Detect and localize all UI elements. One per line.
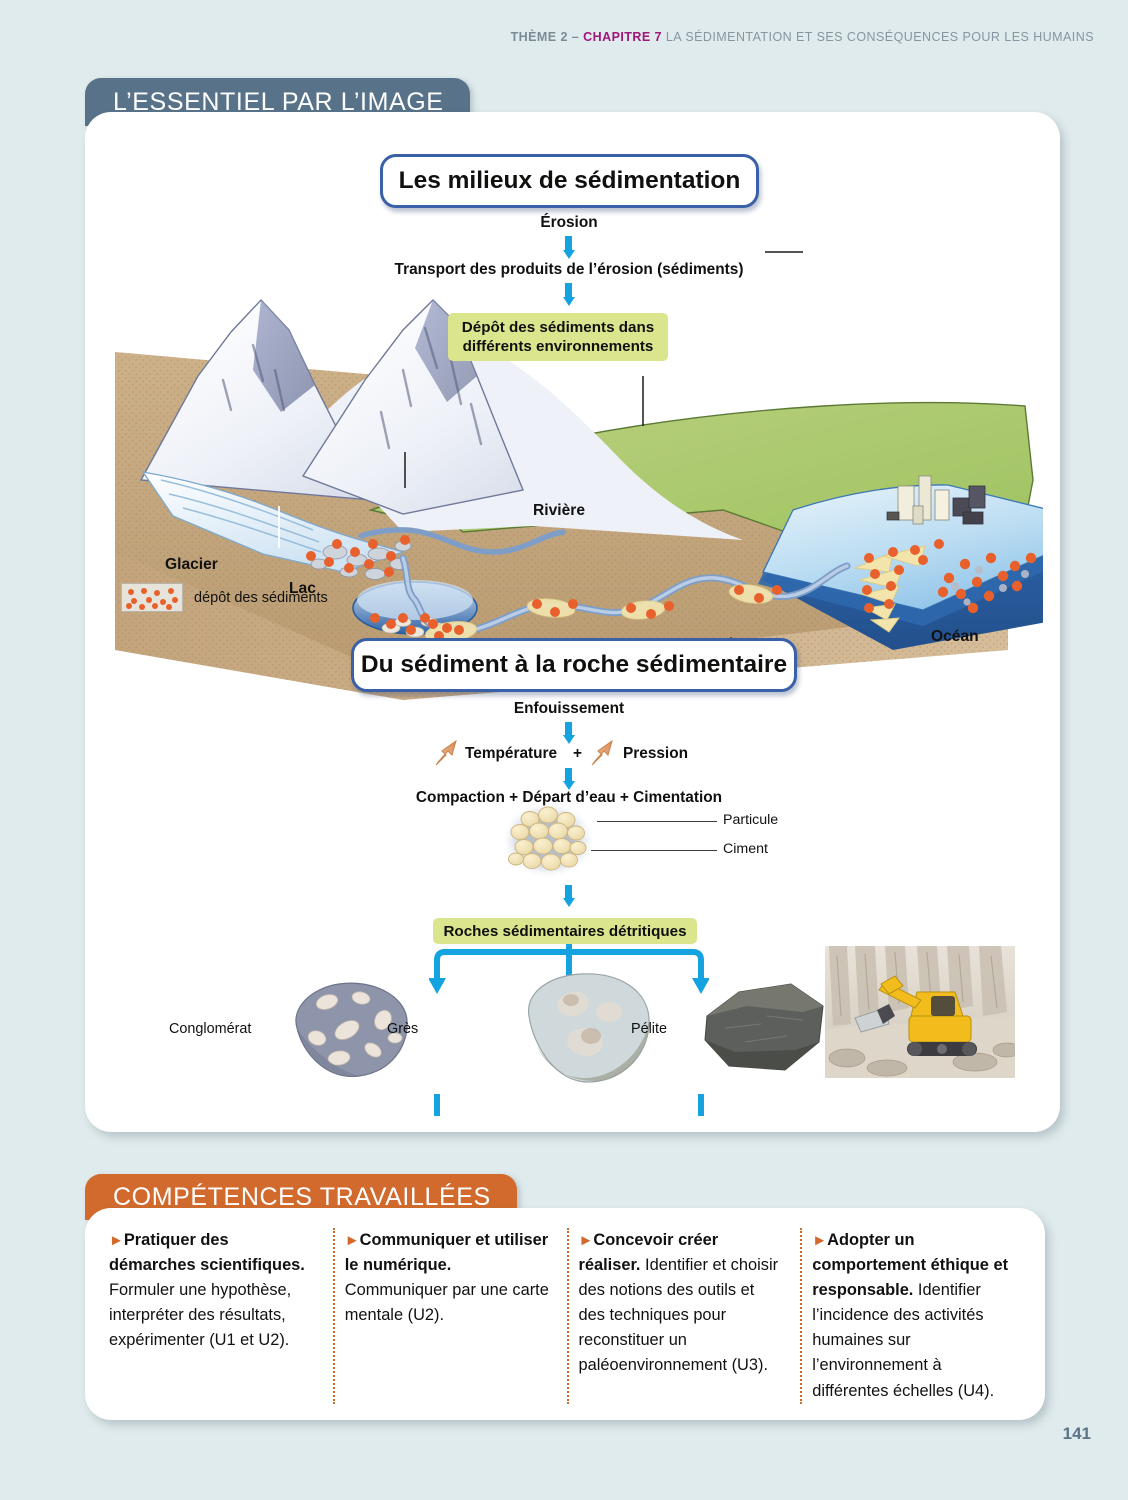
diagram2-title-text: Du sédiment à la roche sédimentaire	[361, 651, 787, 679]
pression-up-arrow-icon	[589, 738, 615, 768]
flow-enfouissement: Enfouissement	[99, 700, 1039, 718]
flow-depot-box: Dépôt des sédiments dans différents envi…	[448, 313, 668, 361]
label-pression: Pression	[623, 745, 688, 763]
bullet-triangle-icon: ►	[579, 1232, 594, 1249]
bullet-triangle-icon: ►	[812, 1232, 827, 1249]
flow-transport: Transport des produits de l’érosion (séd…	[99, 261, 1039, 279]
page-number: 141	[1063, 1424, 1091, 1444]
competence-item-3: ►Concevoir créer réaliser. Identifier et…	[567, 1228, 801, 1404]
label-ciment: Ciment	[723, 841, 768, 857]
running-head: THÈME 2 – CHAPITRE 7 LA SÉDIMENTATION ET…	[511, 30, 1094, 44]
leader-particule	[597, 821, 717, 822]
diagram1-title: Les milieux de sédimentation	[380, 154, 759, 208]
running-head-chapter: CHAPITRE 7	[583, 30, 662, 44]
scene-label-ocean: Océan	[931, 628, 979, 646]
label-plus: +	[573, 745, 582, 763]
rock-label-pelite: Pélite	[631, 1021, 667, 1037]
arrow-enfouissement	[562, 722, 575, 744]
arrow-transport-to-depot	[562, 283, 575, 306]
excavator-photo	[825, 946, 1015, 1078]
competence-1-text: Formuler une hypothèse, interpréter des …	[109, 1281, 291, 1349]
rock-label-conglomerat: Conglomérat	[169, 1021, 251, 1037]
competence-item-4: ►Adopter un comportement éthique et resp…	[800, 1228, 1034, 1404]
flow-erosion: Érosion	[99, 214, 1039, 232]
bullet-triangle-icon: ►	[345, 1232, 360, 1249]
competence-2-bold: Communiquer et utiliser le numérique.	[345, 1231, 548, 1274]
competence-1-bold: Pratiquer des démarches scientifiques.	[109, 1231, 305, 1274]
label-particule: Particule	[723, 812, 778, 828]
rock-label-gres: Grès	[387, 1021, 418, 1037]
competence-2-text: Communiquer par une carte mentale (U2).	[345, 1281, 549, 1324]
box-roches-detritiques: Roches sédimentaires détritiques	[433, 918, 697, 944]
legend-sediment-deposit: dépôt des sédiments	[121, 583, 328, 612]
running-head-title: LA SÉDIMENTATION ET SES CONSÉQUENCES POU…	[662, 30, 1094, 44]
leader-ciment	[591, 850, 717, 851]
rock-photo-pelite	[699, 976, 829, 1080]
legend-label: dépôt des sédiments	[194, 590, 328, 606]
arrow-erosion-to-transport	[562, 236, 575, 259]
diagram1-title-text: Les milieux de sédimentation	[399, 167, 741, 195]
legend-swatch	[121, 583, 183, 612]
running-head-theme: THÈME 2 –	[511, 30, 584, 44]
diagram2-title: Du sédiment à la roche sédimentaire	[351, 638, 797, 692]
arrow-to-compaction	[562, 768, 575, 790]
scene-label-riviere: Rivière	[533, 502, 585, 520]
sedimentation-infographic: Glacier Lac Rivière Delta Océan Les mili…	[99, 128, 1046, 1116]
temperature-up-arrow-icon	[433, 738, 459, 768]
competence-item-1: ►Pratiquer des démarches scientifiques. …	[99, 1228, 333, 1404]
competences-grid: ►Pratiquer des démarches scientifiques. …	[99, 1228, 1034, 1403]
arrow-to-roches	[562, 885, 575, 907]
scene-label-glacier: Glacier	[165, 556, 218, 574]
competence-item-2: ►Communiquer et utiliser le numérique. C…	[333, 1228, 567, 1404]
bullet-triangle-icon: ►	[109, 1232, 124, 1249]
label-temperature: Température	[465, 745, 557, 763]
grain-cement-diagram	[502, 801, 594, 879]
textbook-page: THÈME 2 – CHAPITRE 7 LA SÉDIMENTATION ET…	[0, 0, 1128, 1500]
